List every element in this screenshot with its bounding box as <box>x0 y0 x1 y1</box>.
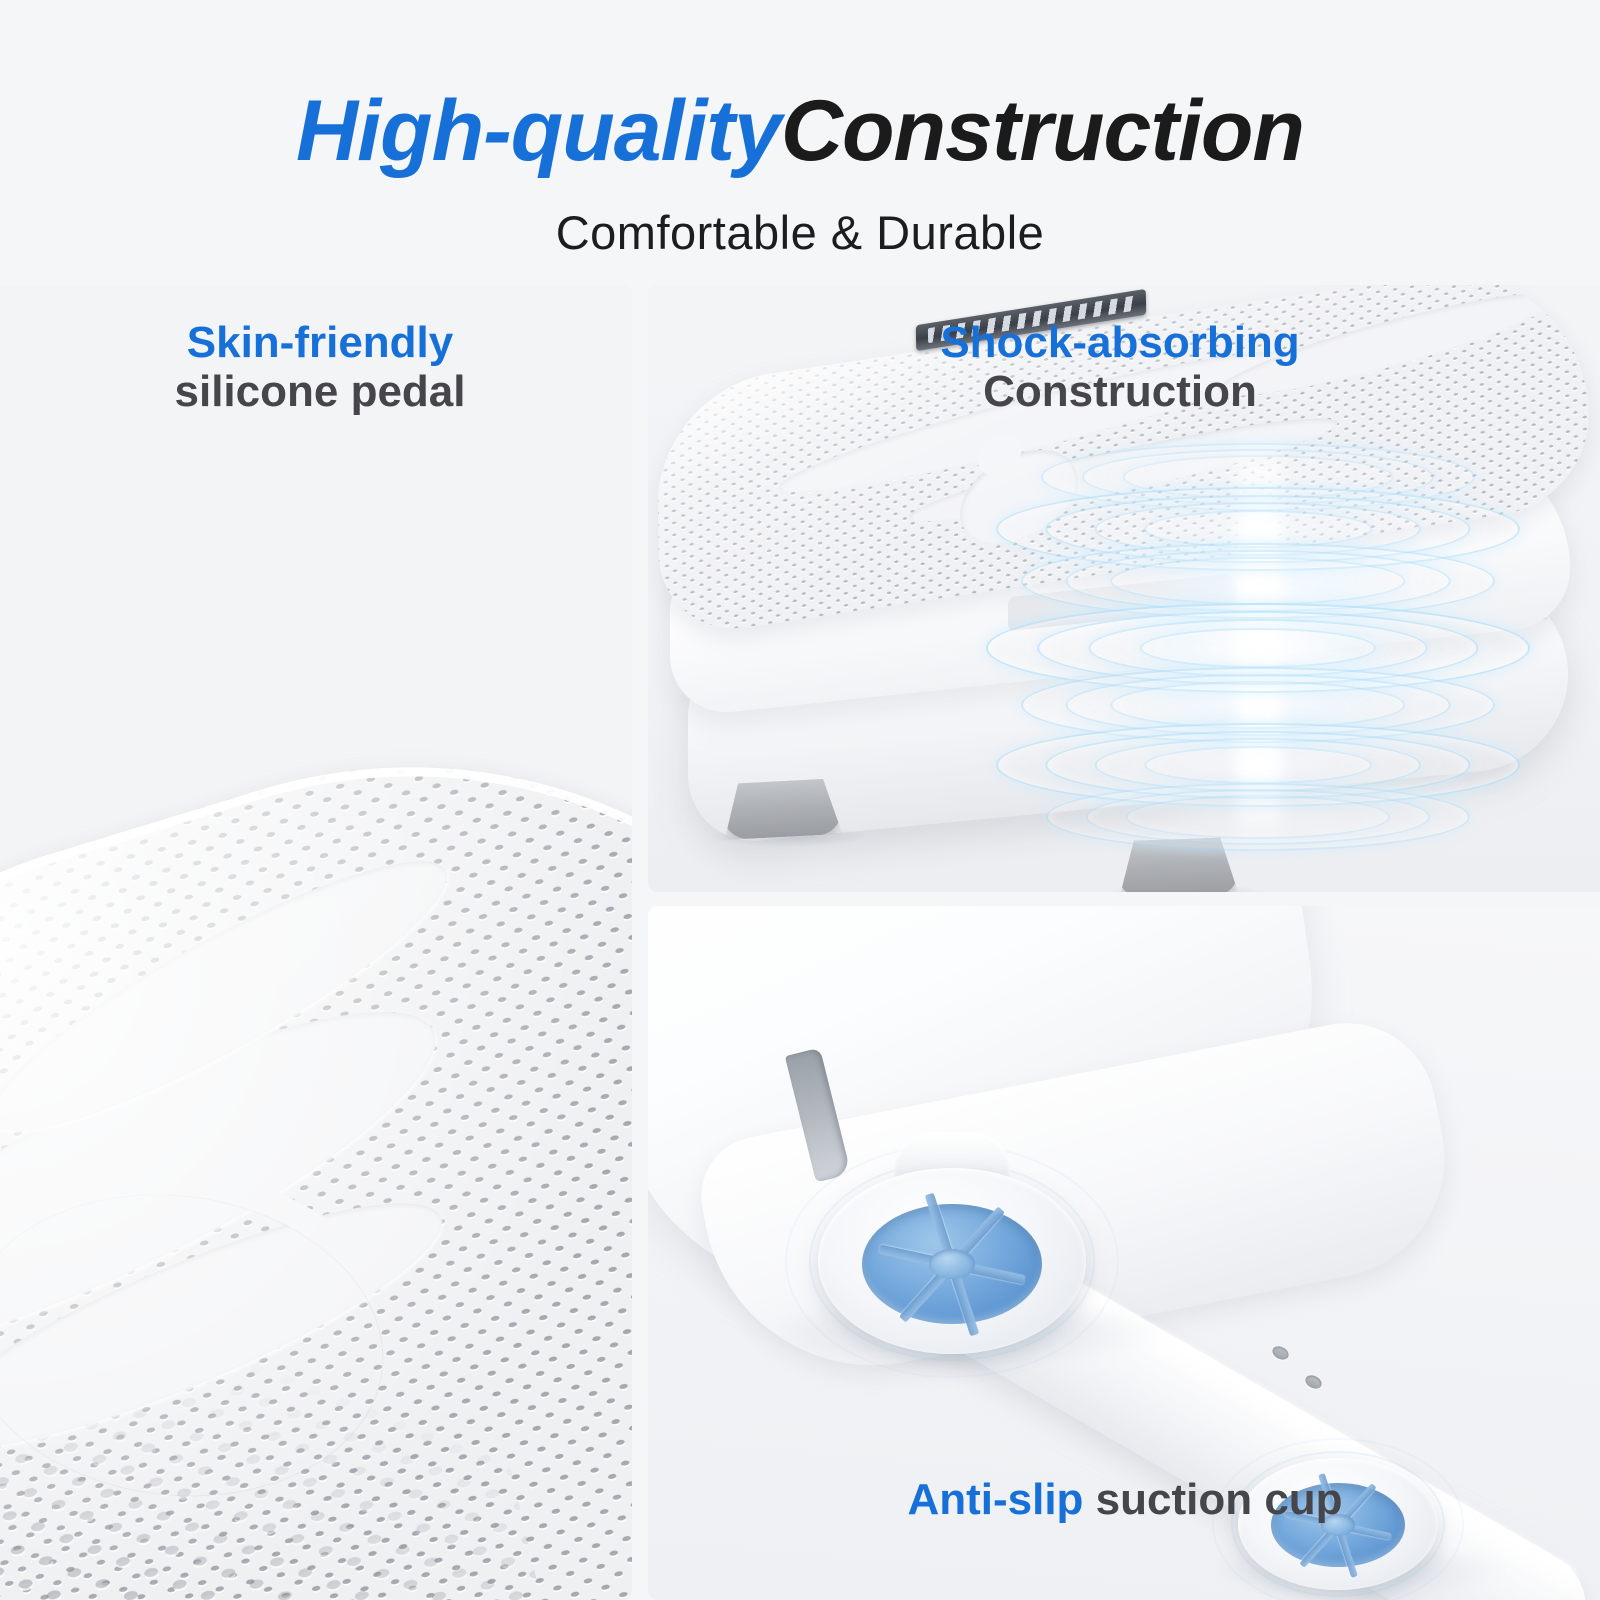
suction-cup-rear <box>1238 1458 1438 1590</box>
suction-cup-disc <box>862 1204 1042 1324</box>
header: High-qualityConstruction Comfortable & D… <box>0 0 1600 285</box>
vibration-ring <box>1126 795 1390 839</box>
screw-hole <box>1270 1344 1291 1362</box>
panel-shock-absorbing-construction <box>648 285 1600 892</box>
panel-anti-slip-suction-cup <box>648 906 1600 1600</box>
page-title: High-qualityConstruction <box>0 88 1600 174</box>
silicone-pedal-photo <box>0 285 632 1600</box>
screw-hole <box>1303 1373 1324 1391</box>
page-title-highlight: High-quality <box>296 83 781 179</box>
pedal-deck <box>0 638 632 1600</box>
suction-cup-front <box>818 1168 1086 1354</box>
suction-cup-hub <box>929 1249 975 1279</box>
rubber-foot <box>722 778 843 840</box>
panel-skin-friendly-silicone-pedal <box>0 285 632 1600</box>
suction-cup-disc <box>1271 1483 1405 1567</box>
suction-cup-photo <box>648 906 1600 1600</box>
page-title-rest: Construction <box>781 83 1304 179</box>
suction-cup-hub <box>1321 1514 1355 1536</box>
rubber-foot <box>1117 837 1239 892</box>
vibration-plate-photo <box>648 285 1600 892</box>
page-subtitle: Comfortable & Durable <box>0 205 1600 261</box>
